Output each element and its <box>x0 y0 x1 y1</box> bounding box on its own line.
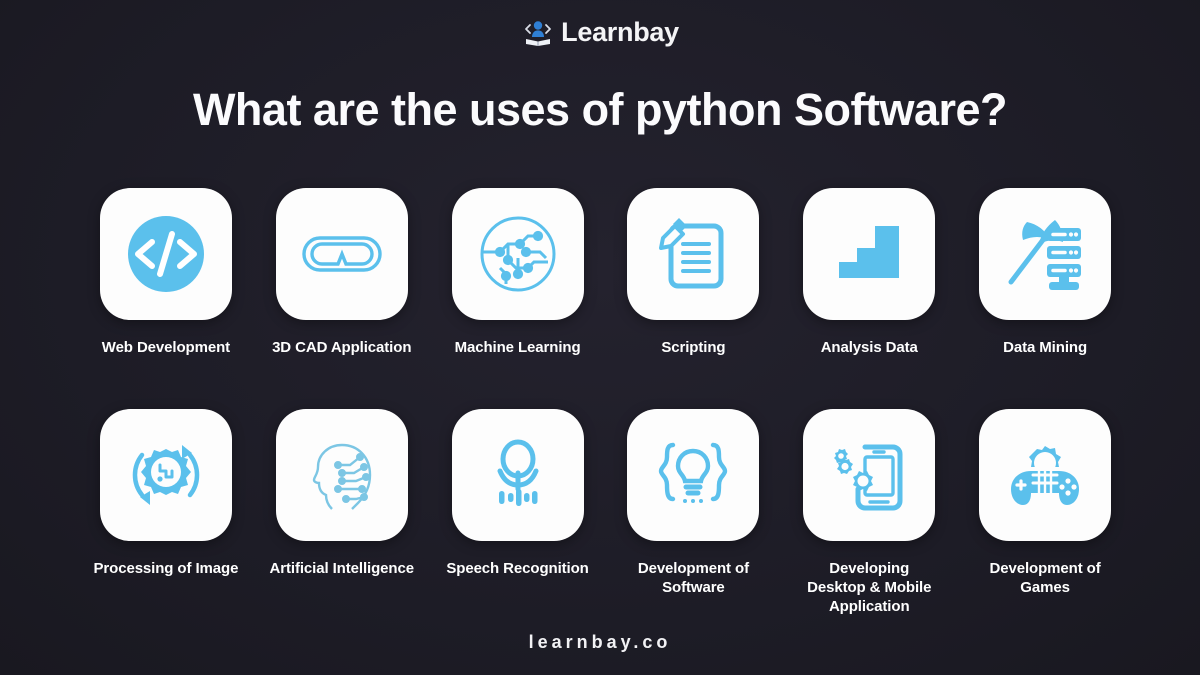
icon-tile <box>627 188 759 320</box>
grid-item-development-of-games[interactable]: Development of Games <box>957 409 1133 616</box>
grid-item-label: Speech Recognition <box>438 559 598 578</box>
bar-chart-stairs-icon <box>821 206 917 302</box>
lightbulb-curly-braces-icon <box>645 427 741 523</box>
grid-item-label: Processing of Image <box>86 559 246 578</box>
grid-item-developing-desktop-mobile-application[interactable]: Developing Desktop & Mobile Application <box>781 409 957 616</box>
grid-item-analysis-data[interactable]: Analysis Data <box>781 188 957 357</box>
footer-website[interactable]: learnbay.co <box>0 632 1200 653</box>
page-title: What are the uses of python Software? <box>0 82 1200 138</box>
microphone-waveform-icon <box>470 427 566 523</box>
grid-item-label: Scripting <box>613 338 773 357</box>
pickaxe-server-icon <box>997 206 1093 302</box>
grid-item-artificial-intelligence[interactable]: Artificial Intelligence <box>254 409 430 616</box>
icon-tile <box>979 409 1111 541</box>
brand-name: Learnbay <box>561 17 679 48</box>
brand-header: Learnbay <box>0 10 1200 54</box>
grid-item-machine-learning[interactable]: Machine Learning <box>430 188 606 357</box>
grid-item-data-mining[interactable]: Data Mining <box>957 188 1133 357</box>
icon-tile <box>100 188 232 320</box>
grid-item-label: Developing Desktop & Mobile Application <box>789 559 949 616</box>
grid-item-speech-recognition[interactable]: Speech Recognition <box>430 409 606 616</box>
grid-item-label: Web Development <box>86 338 246 357</box>
circuit-network-circle-icon <box>470 206 566 302</box>
grid-item-label: Development of Games <box>965 559 1125 597</box>
grid-item-label: Artificial Intelligence <box>262 559 422 578</box>
icon-tile <box>803 188 935 320</box>
grid-item-label: 3D CAD Application <box>262 338 422 357</box>
grid-item-development-of-software[interactable]: Development of Software <box>605 409 781 616</box>
grid-item-web-development[interactable]: Web Development <box>78 188 254 357</box>
grid-item-label: Machine Learning <box>438 338 598 357</box>
learnbay-person-book-icon <box>521 16 555 48</box>
document-pencil-icon <box>645 206 741 302</box>
grid-item-label: Development of Software <box>613 559 773 597</box>
icon-tile <box>276 409 408 541</box>
uses-grid: Web Development 3D CAD Application <box>78 188 1133 616</box>
head-neural-network-icon <box>294 427 390 523</box>
gamepad-gear-icon <box>997 427 1093 523</box>
vr-goggles-icon <box>294 206 390 302</box>
icon-tile <box>627 409 759 541</box>
icon-tile <box>803 409 935 541</box>
icon-tile <box>100 409 232 541</box>
gear-refresh-arrows-icon <box>118 427 214 523</box>
icon-tile <box>452 188 584 320</box>
infographic-page: Learnbay What are the uses of python Sof… <box>0 0 1200 675</box>
icon-tile <box>452 409 584 541</box>
grid-item-processing-of-image[interactable]: Processing of Image <box>78 409 254 616</box>
grid-item-3d-cad-application[interactable]: 3D CAD Application <box>254 188 430 357</box>
icon-tile <box>276 188 408 320</box>
grid-item-label: Data Mining <box>965 338 1125 357</box>
grid-item-scripting[interactable]: Scripting <box>605 188 781 357</box>
icon-tile <box>979 188 1111 320</box>
grid-item-label: Analysis Data <box>789 338 949 357</box>
code-brackets-circle-icon <box>118 206 214 302</box>
smartphone-gears-icon <box>821 427 917 523</box>
